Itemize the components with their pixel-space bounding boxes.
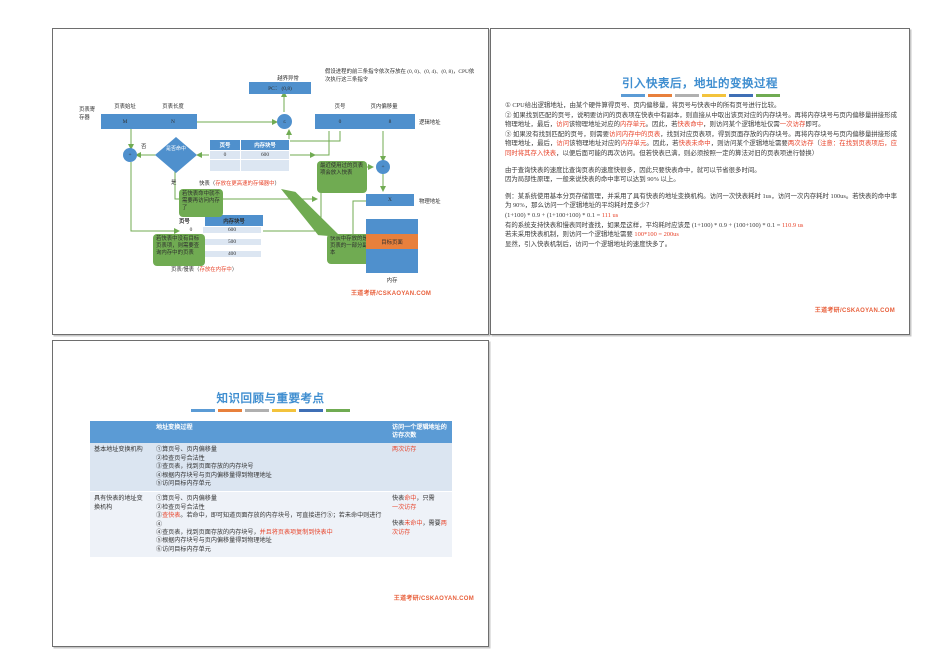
tlb-cell-empty-1 [210,160,241,172]
page-table-length-label: 页表长度 [149,102,197,110]
row2-access-miss: 快表未命中，需要两次访存 [392,520,448,537]
plus-circle-right: + [376,160,390,174]
row2-step-1: ①算页号、页内偏移量 [156,495,384,503]
slide-address-translation-text[interactable]: 引入快表后，地址的变换过程 ① CPU给出逻辑地址，由某个硬件算得页号、页内偏移… [490,28,910,335]
para-1: ① CPU给出逻辑地址，由某个硬件算得页号、页内偏移量，将页号与快表中的所有页号… [505,101,897,111]
para-3: ③ 如果没有找到匹配的页号，则需要访问内存中的页表，找到对应页表项，得到页面存放… [505,130,897,159]
pt-caption-tail: ） [232,267,237,273]
para-9: 若未采用快表机制，则访问一个逻辑地址需要 100*100 = 200us [505,230,897,240]
row2-accesses: 快表命中，只需一次访存 快表未命中，需要两次访存 [388,492,452,558]
compare-operator: ≤ [283,119,286,125]
tlb-caption: 快表（存放在更高速的存储器中） [199,179,280,187]
tlb-caption-tail: ） [275,181,280,187]
tlb-header-block-no: 内存块号 [241,140,290,151]
register-m-value: M [123,119,128,125]
logical-page-value: 0 [339,119,342,125]
row1-step-1: ①算页号、页内偏移量 [156,446,384,454]
logical-offset-cell: 8 [365,114,415,129]
physical-address-box: X [366,194,414,206]
callout-recent-entries: 最近使用过的页表项会放入快表 [317,161,367,193]
target-page-label: 目标页面 [381,238,403,246]
watermark-slide1: 王道考研/CSKAOYAN.COM [351,288,431,297]
page-table-row-0: 0600 [179,227,263,233]
tlb-caption-plain: 快表（ [199,181,215,187]
tlb-header-row: 页号 内存块号 [210,140,290,151]
para-7: (1+100) * 0.9 + (1+100+100) * 0.1 = 111 … [505,211,897,221]
row1-step-5: ⑤访问目标内存单元 [156,480,384,488]
tlb-table: 页号 内存块号 0 600 [209,139,290,172]
physical-address-value: X [388,197,392,203]
page-table-header-text: 内存块号 [223,217,245,225]
slide-address-translation-diagram[interactable]: PC： (0,8) 越界异常 假设进程的前三条指令依次存放在 (0, 0)、(0… [52,28,489,335]
slide3-title: 知识回顾与重要考点 [53,390,488,406]
para-5: 因为局部性原理，一般来说快表的命中率可以达到 90% 以上。 [505,175,897,185]
tlb-caption-red: 存放在更高速的存储器中 [215,181,274,187]
callout-tlb-hit: 若快表命中就不需要再访问内存了 [179,189,223,217]
page-table-start-label: 页表始址 [101,102,149,110]
target-page-block: 目标页面 [366,234,418,249]
callout-tlb-copy: 快表中存放的是页表的一部分副本 [327,234,371,264]
tlb-header-page-no: 页号 [210,140,241,151]
row2-steps: ①算页号、页内偏移量 ②检查页号合法性 ③查快表。若命中，即可知道页面存放的内存… [152,492,388,558]
pt-block-1: 500 [203,239,261,245]
logical-page-no-label: 页号 [315,102,365,110]
slide2-body: ① CPU给出逻辑地址，由某个硬件算得页号、页内偏移量，将页号与快表中的所有页号… [505,101,897,249]
pc-box: PC： (0,8) [249,82,311,94]
para-8: 有的系统支持快表和慢表同时查找，如果是这样，平均耗时应该是 (1+100) * … [505,221,897,231]
row2-step-6: ⑥访问目标内存单元 [156,546,384,554]
logical-address-label: 逻辑地址 [419,118,441,126]
decision-label: 是否命中 [155,146,197,153]
para-4: 由于查询快表的速度比查询页表的速度快很多，因此只要快表命中，就可以节省很多时间。 [505,166,897,176]
decision-no-label: 否 [141,142,146,150]
register-n-cell: N [149,114,197,129]
tlb-cell-empty-2 [241,160,290,172]
pt-caption-plain: 页表/慢表（ [171,267,199,273]
row2-step-3: ③查快表。若命中，即可知道页面存放的内存块号，可直接进行⑤；若未命中则进行④ [156,512,384,529]
compare-circle: ≤ [277,114,292,129]
row2-access-hit: 快表命中，只需一次访存 [392,495,448,512]
logical-offset-label: 页内偏移量 [359,102,409,110]
knowledge-table: 地址变换过程 访问一个逻辑地址的访存次数 基本地址变换机构 ①算页号、页内偏移量… [90,421,452,558]
th-blank [90,421,152,443]
callout-tlb-miss: 若快表中没有目标页表项，则需要查询内存中的页表 [153,234,205,266]
pt-block-0: 600 [203,227,261,233]
tlb-hit-decision: 是否命中 [155,137,197,173]
plus-circle-left: + [123,148,137,162]
row1-step-2: ②检查页号合法性 [156,455,384,463]
row1-steps: ①算页号、页内偏移量 ②检查页号合法性 ③查页表，找到页面存放的内存块号 ④根据… [152,443,388,492]
row2-step-2: ②检查页号合法性 [156,504,384,512]
table-row: 基本地址变换机构 ①算页号、页内偏移量 ②检查页号合法性 ③查页表，找到页面存放… [90,443,452,492]
callout-copy-pointer [281,189,341,237]
row2-step-5: ⑤根据内存块号与页内偏移量得到物理地址 [156,537,384,545]
watermark-slide3: 王道考研/CSKAOYAN.COM [394,593,474,602]
pt-block-2: 400 [203,251,261,257]
plus-right-symbol: + [381,164,384,170]
slide2-title: 引入快表后，地址的变换过程 [491,75,909,91]
th-process: 地址变换过程 [152,421,388,443]
overflow-exception-label: 越界异常 [265,74,311,82]
decision-yes-label: 是 [171,178,176,186]
physical-address-label: 物理地址 [419,197,441,205]
row1-access-text: 两次访存 [392,447,416,453]
para-6: 例：某系统使用基本分页存储管理，并采用了具有快表的地址变换机构。访问一次快表耗时… [505,192,897,211]
row1-label: 基本地址变换机构 [90,443,152,492]
assumption-note: 假设进程的前三条指令依次存放在 (0, 0)、(0, 4)、(0, 8)，CPU… [325,69,475,84]
table-header-row: 地址变换过程 访问一个逻辑地址的访存次数 [90,421,452,443]
page-table-caption: 页表/慢表（存放在内存中） [171,265,237,273]
pt-caption-red: 存放在内存中 [199,267,231,273]
page-table-col-label: 页号 [179,217,190,225]
pt-page-0: 0 [179,227,203,233]
para-10: 显然，引入快表机制后，访问一个逻辑地址的速度快多了。 [505,240,897,250]
memory-label: 内存 [366,276,418,284]
logical-offset-value: 8 [389,119,392,125]
row1-step-3: ③查页表，找到页面存放的内存块号 [156,463,384,471]
table-row: 具有快表的地址变换机构 ①算页号、页内偏移量 ②检查页号合法性 ③查快表。若命中… [90,492,452,558]
slide-knowledge-review[interactable]: 知识回顾与重要考点 地址变换过程 访问一个逻辑地址的访存次数 基本地址变换机构 … [52,340,489,647]
tlb-empty-row [210,160,290,172]
title-rule-slide3 [53,409,488,412]
watermark-slide2: 王道考研/CSKAOYAN.COM [815,305,895,314]
pc-value: PC： (0,8) [268,84,292,92]
plus-left-symbol: + [128,152,131,158]
logical-page-no-cell: 0 [315,114,366,129]
para-2: ② 如果找到匹配的页号，说明要访问的页表项在快表中有副本，则直接从中取出该页对应… [505,111,897,130]
title-rule-slide2 [491,94,909,97]
row1-step-4: ④根据内存块号与页内偏移量得到物理地址 [156,472,384,480]
row2-step-4: ④查页表，找到页面存放的内存块号，并且将页表项复制到快表中 [156,529,384,537]
register-m-cell: M [101,114,150,129]
tlb-cell-page-no: 0 [210,151,241,160]
th-accesses: 访问一个逻辑地址的访存次数 [388,421,452,443]
row1-accesses: 两次访存 [388,443,452,492]
tlb-cell-block-no: 600 [241,151,290,160]
page-table-register-label: 页表寄存器 [79,107,97,122]
tlb-row: 0 600 [210,151,290,160]
register-n-value: N [171,119,175,125]
row2-label: 具有快表的地址变换机构 [90,492,152,558]
